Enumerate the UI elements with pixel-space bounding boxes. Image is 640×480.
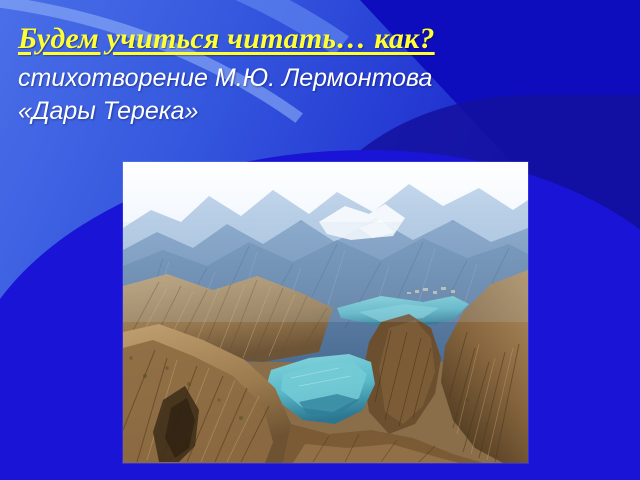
slide-photo — [123, 162, 528, 463]
presentation-slide: Будем учиться читать… как? стихотворение… — [0, 0, 640, 480]
slide-subtitle-line-2: «Дары Терека» — [18, 95, 618, 128]
slide-text-block: Будем учиться читать… как? стихотворение… — [18, 22, 618, 128]
mountain-canyon-illustration — [123, 162, 528, 463]
slide-title: Будем учиться читать… как? — [18, 22, 618, 56]
slide-subtitle-line-1: стихотворение М.Ю. Лермонтова — [18, 62, 618, 95]
